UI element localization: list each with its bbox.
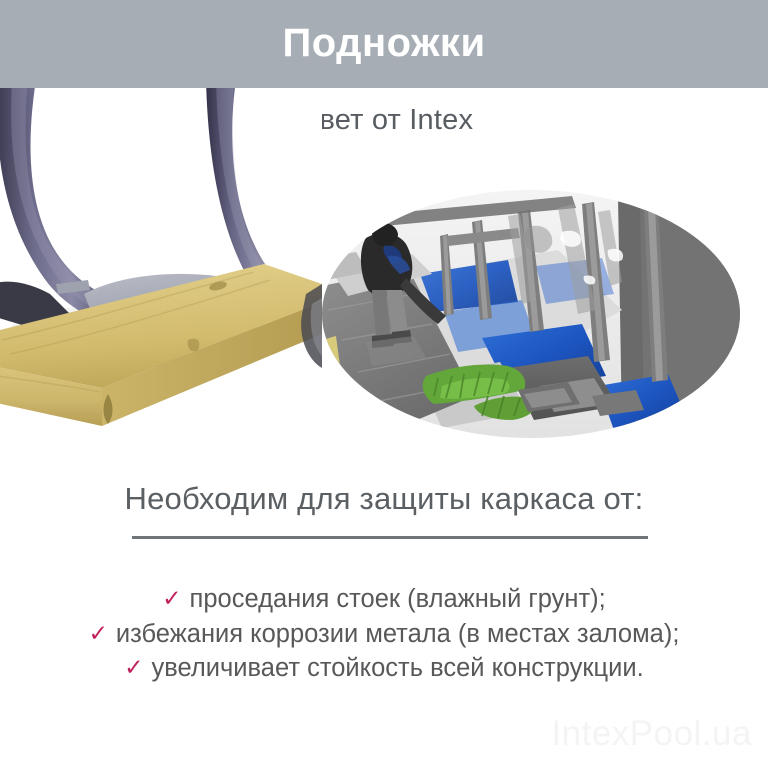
list-item-label: избежания коррозии метала (в местах зало… [116, 617, 680, 652]
check-icon: ✓ [124, 652, 143, 683]
list-item: ✓ увеличивает стойкость всей конструкции… [0, 651, 768, 686]
header-bar: Подножки [0, 0, 768, 88]
infographic-page: Подножки Совет от Intex [0, 0, 768, 768]
check-icon: ✓ [89, 618, 108, 649]
pool-assembly-oval-photo [322, 190, 740, 438]
page-title: Подножки [282, 23, 485, 63]
list-item: ✓ избежания коррозии метала (в местах за… [0, 617, 768, 652]
pool-leg-pad-on-plank-photo [0, 88, 322, 448]
watermark: IntexPool.ua [551, 714, 752, 754]
section-heading: Необходим для защиты каркаса от: [0, 481, 768, 517]
heading-divider [132, 536, 648, 539]
benefits-list: ✓ проседания стоек (влажный грунт); ✓ из… [0, 582, 768, 686]
check-icon: ✓ [162, 583, 181, 614]
list-item-label: проседания стоек (влажный грунт); [190, 582, 606, 617]
list-item-label: увеличивает стойкость всей конструкции. [152, 651, 644, 686]
list-item: ✓ проседания стоек (влажный грунт); [0, 582, 768, 617]
